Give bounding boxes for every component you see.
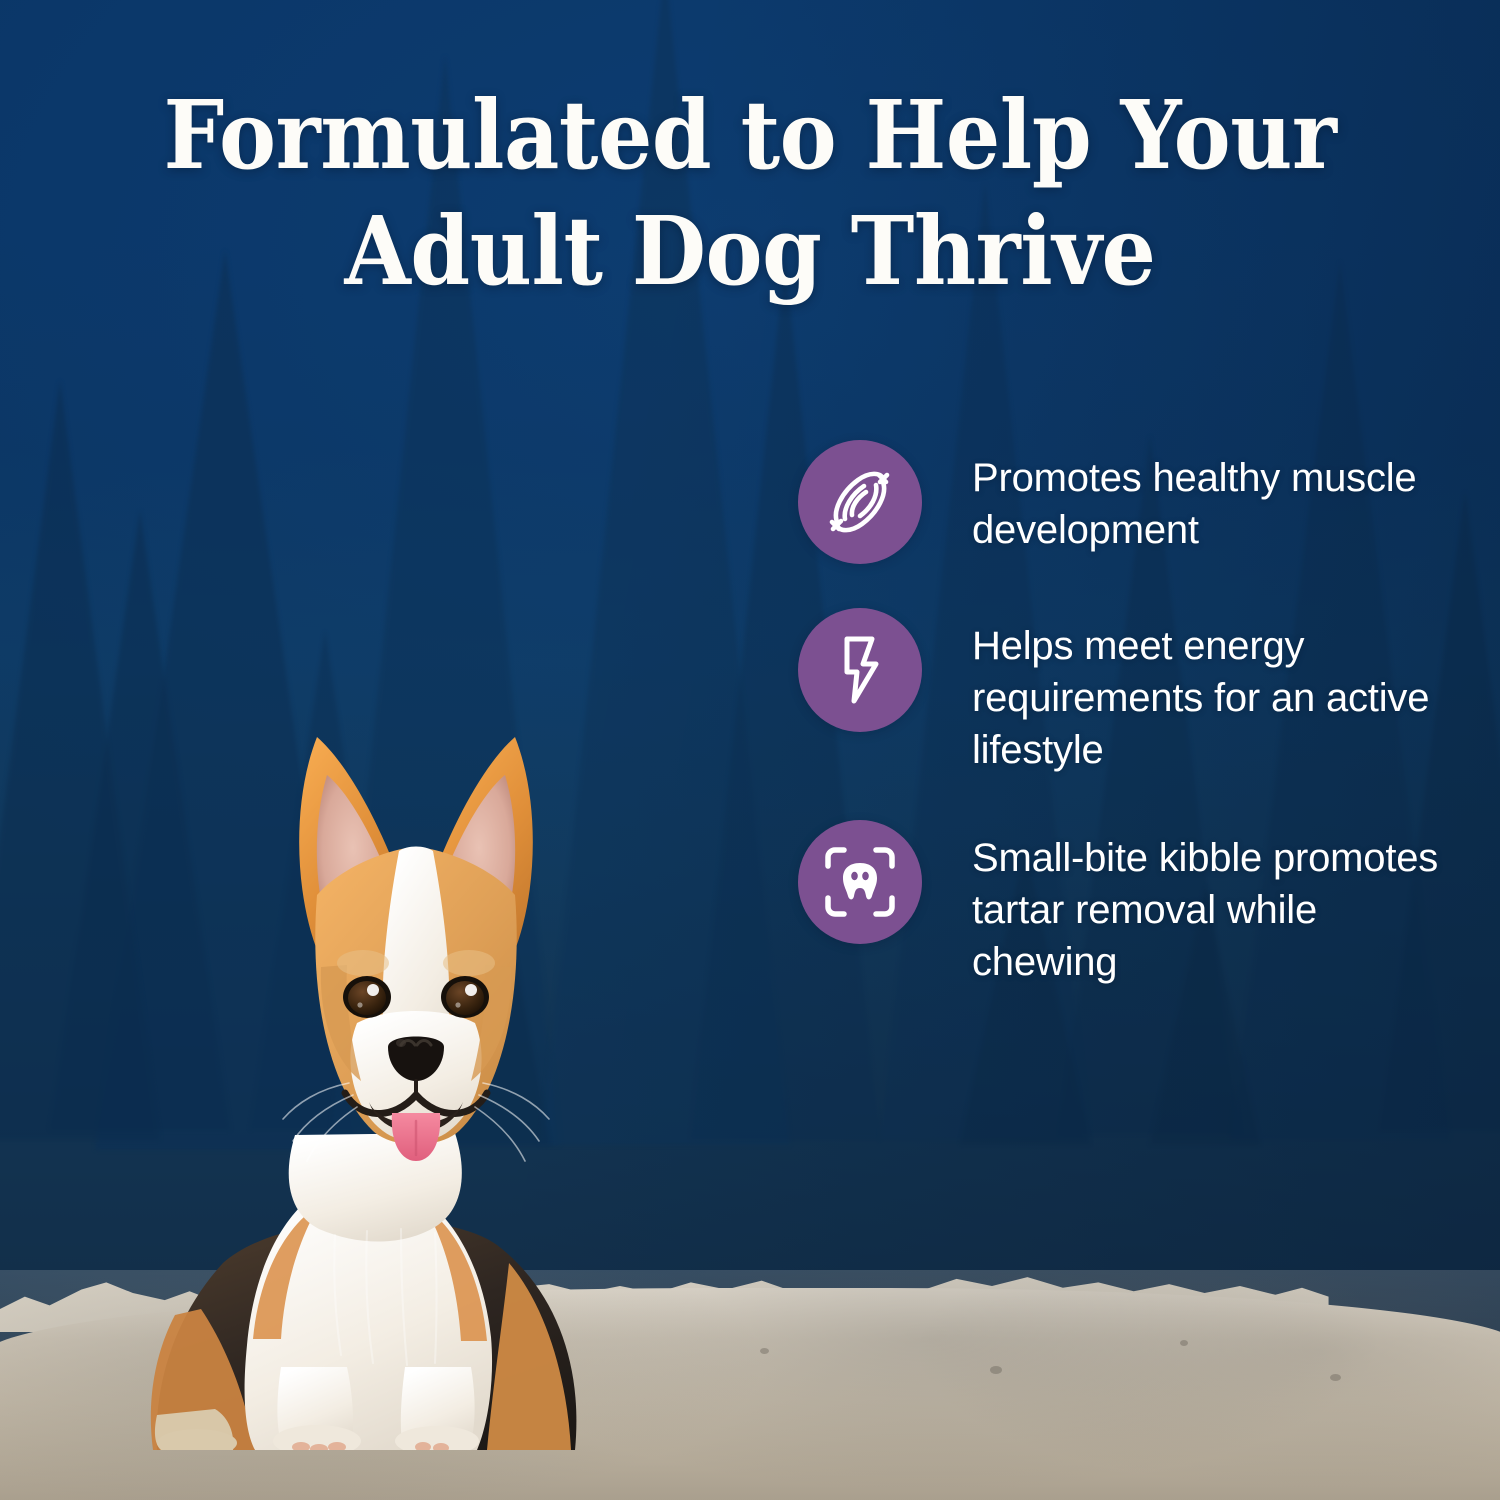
benefit-icon-badge (798, 820, 922, 944)
benefit-text: Helps meet energy requirements for an ac… (972, 608, 1442, 776)
rock-speck (1330, 1374, 1341, 1381)
corgi-illustration (105, 615, 625, 1450)
page-title-line-2: Adult Dog Thrive (156, 194, 1344, 310)
rock-speck (1180, 1340, 1188, 1346)
benefit-item: Small-bite kibble promotes tartar remova… (798, 820, 1458, 988)
benefit-item: Helps meet energy requirements for an ac… (798, 608, 1458, 776)
promo-graphic: Formulated to Help Your Adult Dog Thrive (0, 0, 1500, 1500)
benefit-text: Promotes healthy muscle development (972, 440, 1442, 556)
muscle-fiber-icon (821, 463, 899, 541)
page-title-line-1: Formulated to Help Your (156, 78, 1344, 194)
rock-speck (990, 1366, 1002, 1374)
rock-speck (760, 1348, 769, 1354)
page-title: Formulated to Help Your Adult Dog Thrive (156, 78, 1344, 310)
benefits-list: Promotes healthy muscle development Help… (798, 440, 1458, 1032)
tooth-scan-icon (822, 844, 898, 920)
benefit-icon-badge (798, 440, 922, 564)
benefit-item: Promotes healthy muscle development (798, 440, 1458, 564)
lightning-bolt-icon (824, 634, 896, 706)
corgi-dog-photo (105, 615, 625, 1450)
benefit-icon-badge (798, 608, 922, 732)
benefit-text: Small-bite kibble promotes tartar remova… (972, 820, 1442, 988)
